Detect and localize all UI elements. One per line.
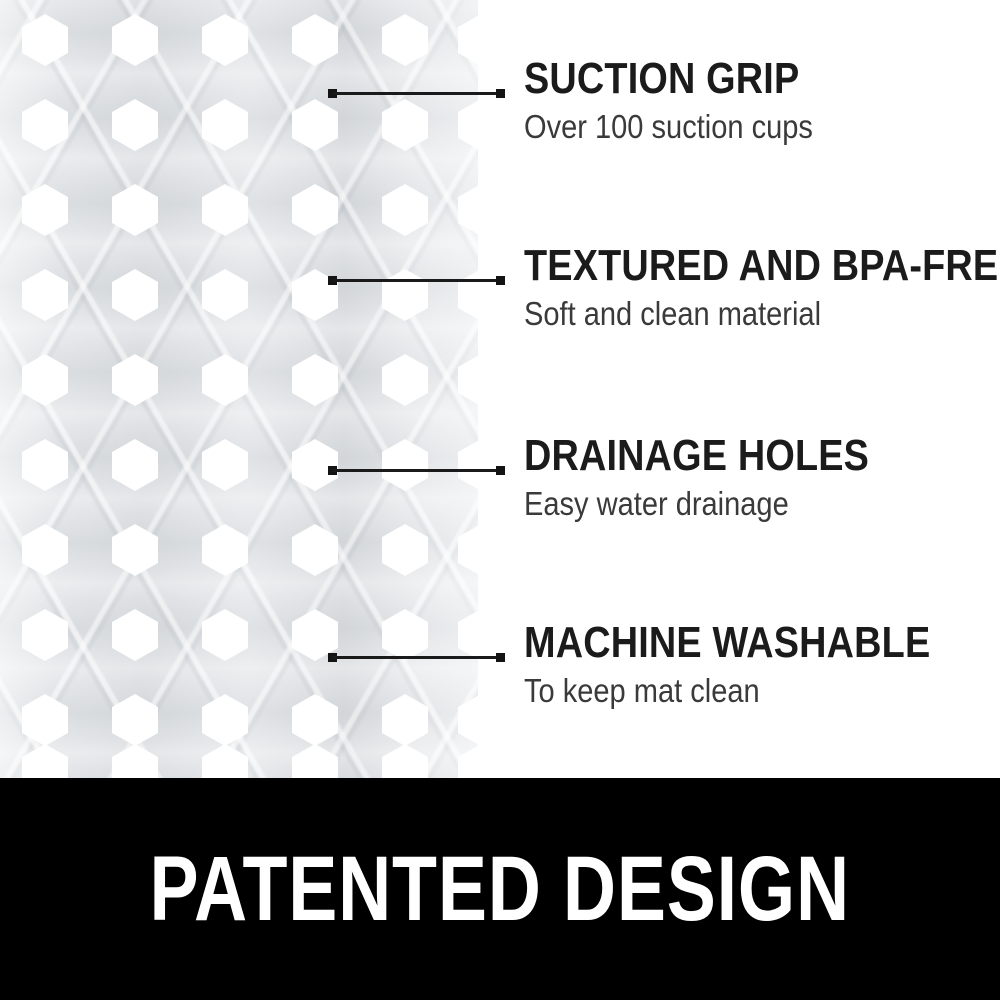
- feature-callout: TEXTURED AND BPA-FREESoft and clean mate…: [0, 276, 1000, 396]
- callout-leader-line: [328, 653, 505, 662]
- leader-end-dot-icon: [496, 276, 505, 285]
- drainage-hole: [458, 14, 478, 66]
- callout-subtitle: Over 100 suction cups: [524, 108, 813, 146]
- leader-end-dot-icon: [496, 89, 505, 98]
- feature-callout: SUCTION GRIPOver 100 suction cups: [0, 89, 1000, 209]
- infographic-page: SUCTION GRIPOver 100 suction cupsTEXTURE…: [0, 0, 1000, 1000]
- drainage-hole: [202, 14, 248, 66]
- feature-callout: DRAINAGE HOLESEasy water drainage: [0, 466, 1000, 586]
- feature-callout: MACHINE WASHABLETo keep mat clean: [0, 653, 1000, 773]
- banner-title: PATENTED DESIGN: [150, 843, 850, 935]
- leader-rule: [332, 656, 501, 659]
- drainage-hole: [382, 14, 428, 66]
- callout-title: TEXTURED AND BPA-FREE: [524, 243, 1000, 289]
- callout-leader-line: [328, 276, 505, 285]
- leader-rule: [332, 469, 501, 472]
- callout-subtitle: Soft and clean material: [524, 295, 821, 333]
- callout-title: MACHINE WASHABLE: [524, 620, 930, 666]
- callout-title: SUCTION GRIP: [524, 56, 799, 102]
- drainage-hole: [22, 14, 68, 66]
- drainage-hole: [112, 14, 158, 66]
- callout-subtitle: To keep mat clean: [524, 672, 760, 710]
- leader-rule: [332, 92, 501, 95]
- drainage-hole: [292, 14, 338, 66]
- callout-subtitle: Easy water drainage: [524, 485, 789, 523]
- leader-end-dot-icon: [496, 653, 505, 662]
- callout-leader-line: [328, 89, 505, 98]
- leader-end-dot-icon: [496, 466, 505, 475]
- callout-leader-line: [328, 466, 505, 475]
- callout-title: DRAINAGE HOLES: [524, 433, 869, 479]
- leader-rule: [332, 279, 501, 282]
- patented-design-banner: PATENTED DESIGN: [0, 778, 1000, 1000]
